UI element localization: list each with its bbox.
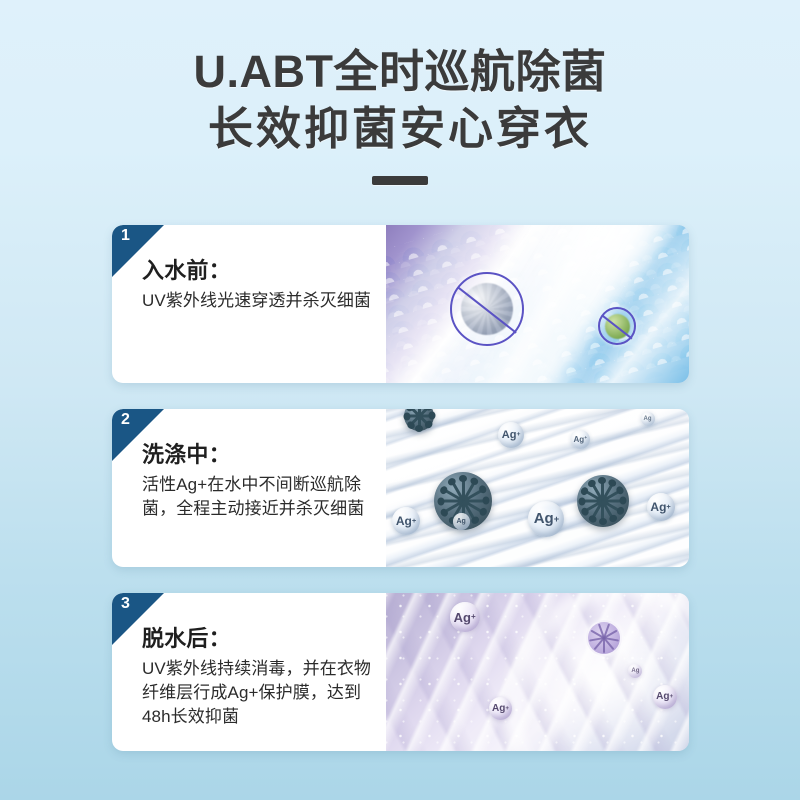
step-card-1[interactable]: 1 入水前： UV紫外线光速穿透并杀灭细菌 <box>112 225 689 383</box>
page-header: U.ABT全时巡航除菌 长效抑菌安心穿衣 <box>0 0 800 185</box>
silver-ion-label: Ag <box>534 510 554 527</box>
page-title-line-2: 长效抑菌安心穿衣 <box>0 101 800 158</box>
silver-ion-label: Ag <box>650 500 666 514</box>
silver-ion-label: Ag <box>492 703 505 714</box>
bacteria-body <box>605 314 630 339</box>
page-title-line-1: U.ABT全时巡航除菌 <box>0 44 800 101</box>
step-card-2[interactable]: 2 洗涤中： 活性Ag+在水中不间断巡航除菌，全程主动接近并杀灭细菌 <box>112 409 689 567</box>
step-title: 脱水后： <box>142 626 372 652</box>
uv-fabric-illustration <box>386 225 689 383</box>
silver-ion-label: Ag <box>656 691 669 702</box>
step-card-3[interactable]: 3 脱水后： UV紫外线持续消毒，并在衣物纤维层行成Ag+保护膜，达到48h长效… <box>112 593 689 751</box>
step-title: 洗涤中： <box>142 442 372 468</box>
silver-ion-label: Ag <box>502 429 517 441</box>
title-divider <box>372 176 428 185</box>
silver-ion-bubble: Ag <box>453 513 470 530</box>
virus-icon-lavender <box>586 620 622 656</box>
bacteria-blocked-icon-small <box>598 307 636 345</box>
step-title: 入水前： <box>142 258 372 284</box>
fiber-strand-texture-secondary <box>386 409 689 567</box>
silver-ion-label: Ag <box>396 514 412 528</box>
virus-icon-right <box>577 475 629 527</box>
silver-ion-bubble: Ag+ <box>498 422 524 448</box>
ag-protective-film-illustration: Ag+ Ag+ Ag+ Ag <box>386 593 689 751</box>
silver-ion-bubble-primary: Ag+ <box>528 501 564 537</box>
silver-ion-label: Ag <box>631 668 639 674</box>
silver-ion-fiber-illustration: Ag+ Ag+ Ag Ag+ Ag+ Ag+ Ag <box>386 409 689 567</box>
step-card-text-3: 脱水后： UV紫外线持续消毒，并在衣物纤维层行成Ag+保护膜，达到48h长效抑菌 <box>112 593 386 751</box>
silver-ion-bubble: Ag+ <box>647 493 675 521</box>
silver-ion-bubble: Ag+ <box>392 507 420 535</box>
bacteria-body <box>461 283 513 335</box>
silver-ion-label: Ag <box>644 416 652 422</box>
step-card-list: 1 入水前： UV紫外线光速穿透并杀灭细菌 2 洗涤中： <box>112 225 689 751</box>
silver-ion-label: Ag <box>574 435 585 444</box>
step-card-text-1: 入水前： UV紫外线光速穿透并杀灭细菌 <box>112 225 386 383</box>
step-description: 活性Ag+在水中不间断巡航除菌，全程主动接近并杀灭细菌 <box>142 473 380 521</box>
silver-ion-bubble: Ag+ <box>571 430 590 449</box>
silver-ion-label: Ag <box>456 518 465 525</box>
silver-ion-bubble: Ag+ <box>450 602 480 632</box>
sparkle-particles-icon <box>386 593 689 751</box>
silver-ion-bubble: Ag+ <box>653 685 677 709</box>
step-description: UV紫外线持续消毒，并在衣物纤维层行成Ag+保护膜，达到48h长效抑菌 <box>142 657 380 729</box>
bacteria-blocked-icon <box>450 272 524 346</box>
silver-ion-label: Ag <box>454 610 471 625</box>
virus-icon-small <box>404 409 434 431</box>
step-card-text-2: 洗涤中： 活性Ag+在水中不间断巡航除菌，全程主动接近并杀灭细菌 <box>112 409 386 567</box>
step-description: UV紫外线光速穿透并杀灭细菌 <box>142 289 380 313</box>
silver-ion-bubble: Ag <box>641 412 655 426</box>
